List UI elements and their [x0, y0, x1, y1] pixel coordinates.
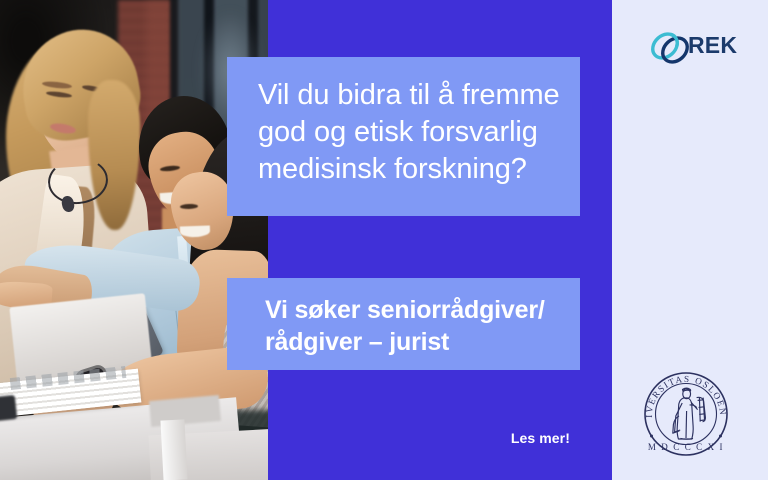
uio-seal-year-text: M D C C C X I [648, 442, 724, 452]
job-advert-banner: Vil du bidra til å fremme god og etisk f… [0, 0, 768, 480]
job-title-card: Vi søker seniorrådgiver/ rådgiver – juri… [227, 278, 580, 370]
uio-seal-icon: UNIVERSITAS OSLOENSIS M D C C C X I [636, 364, 736, 464]
photo-cup [0, 395, 17, 421]
rek-wordmark: REK [688, 32, 737, 59]
job-title-text: Vi søker seniorrådgiver/ rådgiver – juri… [265, 294, 580, 358]
headline-text: Vil du bidra til å fremme god og etisk f… [258, 77, 580, 188]
read-more-link[interactable]: Les mer! [430, 430, 570, 446]
uio-seal[interactable]: UNIVERSITAS OSLOENSIS M D C C C X I [636, 364, 736, 464]
photo-paper-holder [160, 419, 187, 480]
uio-seal-top-text: UNIVERSITAS OSLOENSIS [636, 364, 728, 418]
headline-card: Vil du bidra til å fremme god og etisk f… [227, 57, 580, 216]
rek-logo[interactable]: REK [648, 26, 744, 70]
